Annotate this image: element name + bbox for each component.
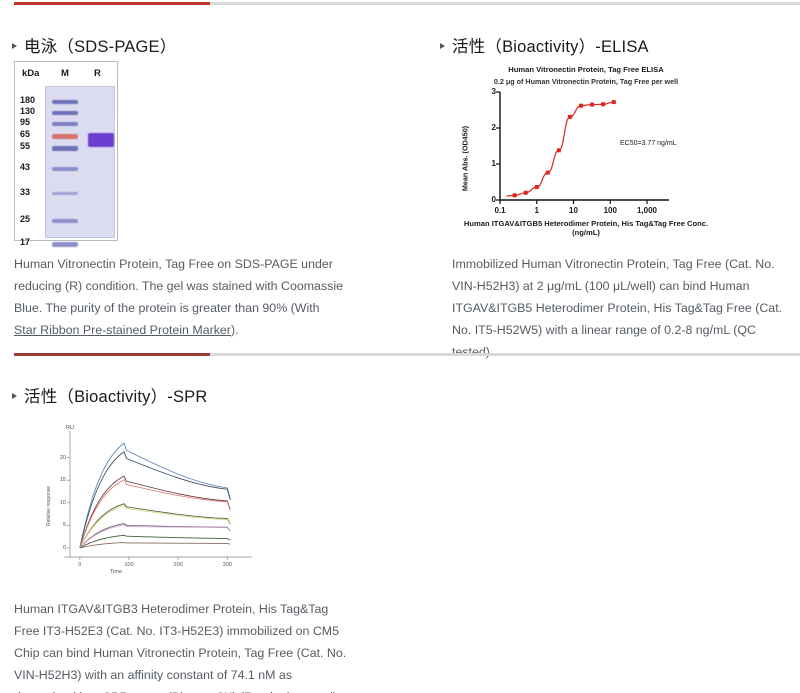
middle-divider-accent <box>14 353 210 356</box>
gel-plate <box>45 86 115 238</box>
elisa-x-tick: 1,000 <box>633 206 661 215</box>
gel-ladder-label: 55 <box>20 141 30 151</box>
section-heading-spr: 活性（Bioactivity）-SPR <box>12 383 208 407</box>
gel-ladder-label: 95 <box>20 117 30 127</box>
elisa-x-tick: 100 <box>596 206 624 215</box>
caption-spr: Human ITGAV&ITGB3 Heterodimer Protein, H… <box>14 598 354 693</box>
spr-x-tick: 200 <box>168 562 188 568</box>
gel-ladder-label: 33 <box>20 187 30 197</box>
spr-y-tick: 15 <box>54 477 66 483</box>
gel-ladder-label: 180 <box>20 95 35 105</box>
gel-band <box>52 134 78 139</box>
gel-band <box>52 122 78 126</box>
protein-marker-link[interactable]: Star Ribbon Pre-stained Protein Marker <box>14 323 231 337</box>
section-heading-sds-page: 电泳（SDS-PAGE） <box>12 33 176 57</box>
elisa-y-tick: 0 <box>484 195 496 204</box>
gel-band <box>52 100 78 104</box>
elisa-x-tick: 10 <box>560 206 588 215</box>
elisa-x-tick: 0.1 <box>486 206 514 215</box>
gel-lane-m-header: M <box>61 68 69 79</box>
gel-lane-headers: kDa M R <box>15 62 117 84</box>
gel-band <box>88 117 114 129</box>
section-title-elisa: 活性（Bioactivity）-ELISA <box>452 33 649 57</box>
gel-band <box>52 242 78 247</box>
gel-ladder-label: 25 <box>20 214 30 224</box>
section-heading-elisa: 活性（Bioactivity）-ELISA <box>440 33 649 57</box>
triangle-bullet-icon <box>12 393 17 399</box>
caption-sds-page: Human Vitronectin Protein, Tag Free on S… <box>14 253 344 341</box>
elisa-y-tick: 2 <box>484 123 496 132</box>
caption-sds-text-2: ). <box>231 323 239 337</box>
elisa-x-tick: 1 <box>523 206 551 215</box>
spr-x-tick: 0 <box>70 562 90 568</box>
sds-page-gel-image: kDa M R 18013095655543332517 <box>14 61 118 241</box>
gel-kda-header: kDa <box>22 68 39 79</box>
spr-x-tick: 300 <box>217 562 237 568</box>
gel-ladder-label: 17 <box>20 237 30 247</box>
gel-band <box>88 133 114 147</box>
gel-band <box>52 146 78 151</box>
spr-y-tick: 10 <box>54 500 66 506</box>
spr-y-tick: 5 <box>54 522 66 528</box>
caption-elisa: Immobilized Human Vitronectin Protein, T… <box>452 253 792 363</box>
spr-y-tick: 0 <box>54 545 66 551</box>
elisa-y-tick: 1 <box>484 159 496 168</box>
gel-ladder-label: 130 <box>20 106 35 116</box>
spr-y-tick: 20 <box>54 455 66 461</box>
top-divider <box>14 2 800 5</box>
gel-ladder-label: 43 <box>20 162 30 172</box>
gel-band <box>52 192 78 195</box>
spr-x-tick: 100 <box>119 562 139 568</box>
middle-divider <box>14 353 800 356</box>
top-divider-accent <box>14 2 210 5</box>
section-title-sds-page: 电泳（SDS-PAGE） <box>24 33 176 57</box>
caption-sds-text-1: Human Vitronectin Protein, Tag Free on S… <box>14 257 343 315</box>
gel-band <box>52 111 78 115</box>
gel-band <box>52 167 78 171</box>
gel-lane-r-header: R <box>94 68 101 79</box>
product-validation-page: 电泳（SDS-PAGE） kDa M R 1801309565554333251… <box>0 0 800 693</box>
triangle-bullet-icon <box>440 43 445 49</box>
spr-sensorgram-chart: RU Relative response Time 05101520010020… <box>14 417 259 587</box>
gel-ladder-labels: 18013095655543332517 <box>20 84 44 240</box>
gel-ladder-label: 65 <box>20 129 30 139</box>
elisa-chart: Human Vitronectin Protein, Tag Free ELIS… <box>452 62 720 237</box>
section-title-spr: 活性（Bioactivity）-SPR <box>24 383 208 407</box>
elisa-y-tick: 3 <box>484 87 496 96</box>
triangle-bullet-icon <box>12 43 17 49</box>
gel-band <box>52 219 78 223</box>
